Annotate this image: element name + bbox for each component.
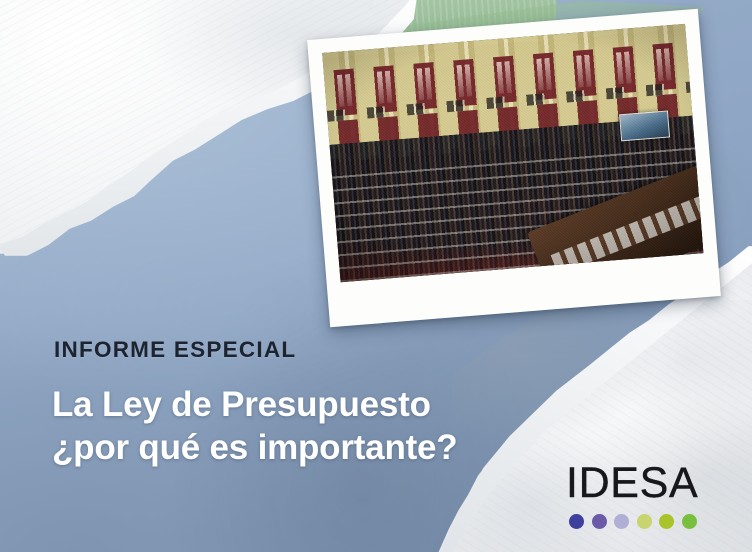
polaroid-frame [307,9,721,328]
kicker-label: INFORME ESPECIAL [54,337,296,363]
page-title: La Ley de Presupuesto ¿por qué es import… [52,384,457,469]
idesa-logo-dot-1 [569,514,584,529]
congress-chamber-photo [322,24,703,282]
photo-wall-screen [619,111,670,142]
idesa-wordmark: IDESA [566,462,706,505]
idesa-logo-dot-6 [682,514,697,529]
poster-canvas: INFORME ESPECIAL La Ley de Presupuesto ¿… [0,0,752,552]
idesa-logo-dot-4 [637,514,652,529]
idesa-logo-dots [569,514,706,529]
idesa-logo: IDESA [566,462,706,529]
idesa-logo-dot-5 [659,514,674,529]
headline-line-1: La Ley de Presupuesto [52,384,457,427]
idesa-logo-dot-2 [592,514,607,529]
headline-line-2: ¿por qué es importante? [52,427,457,470]
idesa-logo-dot-3 [614,514,629,529]
